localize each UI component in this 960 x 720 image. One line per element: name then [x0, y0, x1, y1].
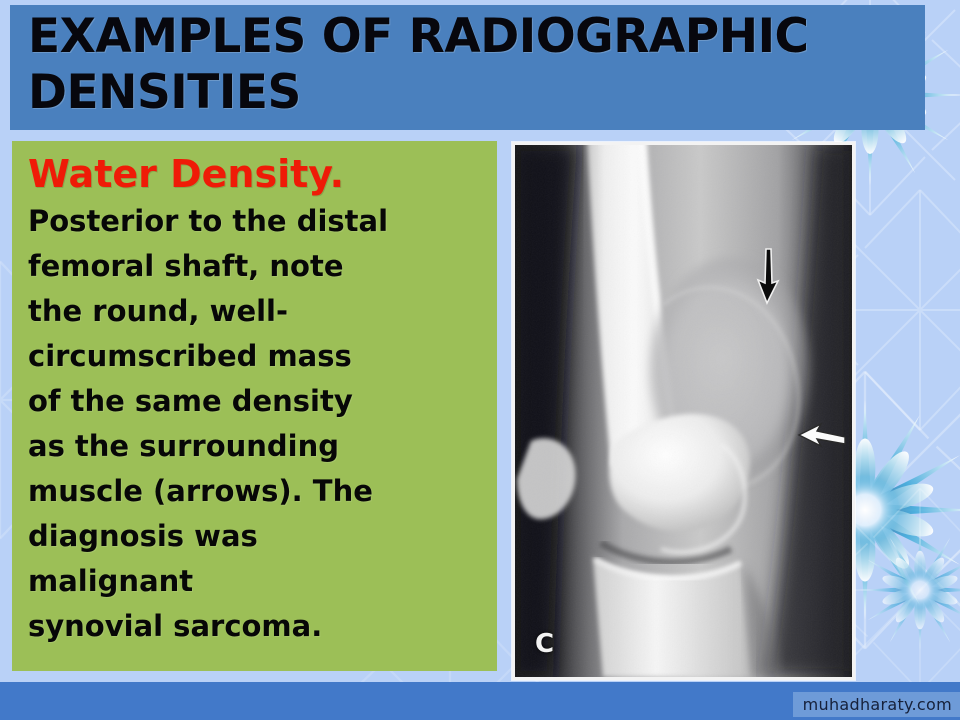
watermark-label: muhadharaty.com: [793, 692, 960, 717]
bottom-bar: muhadharaty.com: [0, 682, 960, 720]
figure-panel-label: C: [535, 629, 554, 659]
radiograph-figure: C: [512, 142, 855, 680]
title-banner: EXAMPLES OF RADIOGRAPHIC DENSITIES: [10, 5, 925, 130]
content-text-box: Water Density. Posterior to the distal f…: [12, 141, 497, 671]
radiograph-image: C: [515, 145, 852, 677]
slide-canvas: EXAMPLES OF RADIOGRAPHIC DENSITIES Water…: [0, 0, 960, 720]
radiograph-graphic: [515, 145, 852, 677]
page-title: EXAMPLES OF RADIOGRAPHIC DENSITIES: [28, 9, 925, 121]
content-heading: Water Density.: [28, 151, 489, 197]
content-body-text: Posterior to the distal femoral shaft, n…: [28, 199, 489, 649]
